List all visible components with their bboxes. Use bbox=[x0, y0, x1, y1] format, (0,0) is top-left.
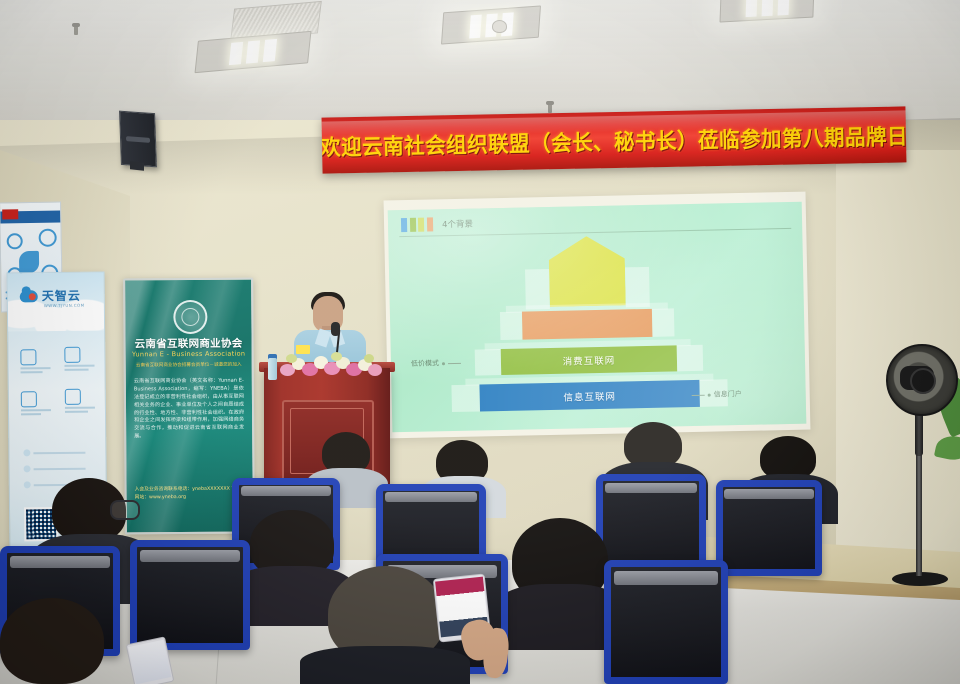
feature-text-line bbox=[21, 371, 43, 373]
bullet-item bbox=[23, 449, 85, 457]
wall-speaker bbox=[119, 111, 157, 168]
header-bar-lime bbox=[418, 218, 424, 232]
microphone-icon bbox=[331, 322, 340, 336]
feature-icon bbox=[65, 389, 81, 405]
fan-pole bbox=[916, 450, 922, 576]
tier-blue-label: 信息互联网 bbox=[563, 388, 616, 403]
bullet-item bbox=[24, 465, 86, 473]
welcome-banner: 热烈欢迎云南社会组织联盟（会长、秘书长）莅临参加第八期品牌日活动 bbox=[322, 106, 907, 173]
bullet-text-line bbox=[33, 451, 85, 454]
feature-cell bbox=[64, 347, 98, 373]
callout-line bbox=[448, 362, 461, 363]
feature-text-line bbox=[64, 365, 94, 367]
chair[interactable] bbox=[130, 540, 250, 650]
pyramid-tier-blue: 信息互联网 bbox=[479, 380, 700, 412]
callout-line bbox=[692, 394, 705, 395]
callout-dot-icon bbox=[442, 362, 445, 365]
chair[interactable] bbox=[604, 560, 728, 684]
pyramid-tier-orange bbox=[522, 309, 653, 340]
feature-text-line bbox=[21, 413, 41, 415]
attendee-head bbox=[0, 598, 104, 684]
conference-room-photo: 热烈欢迎云南社会组织联盟（会长、秘书长）莅临参加第八期品牌日活动 4个背景 bbox=[0, 0, 960, 684]
chair-bar bbox=[140, 550, 241, 562]
tier-ghost-left bbox=[500, 312, 523, 340]
header-bar-green bbox=[409, 218, 415, 232]
pyramid-tier-green: 消费互联网 bbox=[501, 345, 678, 375]
chair-bar bbox=[605, 483, 697, 494]
feature-cell bbox=[65, 389, 99, 415]
feature-text-line bbox=[21, 367, 51, 369]
fan-hub bbox=[910, 368, 936, 394]
poster-swirl-icon bbox=[19, 251, 39, 273]
speaker-bracket bbox=[130, 161, 144, 170]
tier-ghost-left bbox=[475, 349, 502, 376]
feature-icon bbox=[20, 349, 36, 365]
tier-ghost-left bbox=[451, 384, 480, 412]
chair[interactable] bbox=[716, 480, 822, 576]
feature-text-line bbox=[21, 409, 51, 411]
bullet-icon bbox=[24, 481, 31, 488]
feature-icon bbox=[64, 347, 80, 363]
feature-text-line bbox=[65, 411, 88, 413]
node-icon bbox=[39, 229, 57, 247]
chair-bar bbox=[724, 489, 813, 500]
feature-cell bbox=[21, 391, 55, 417]
header-bar-orange bbox=[426, 217, 432, 231]
chair-bar bbox=[614, 571, 718, 585]
bullet-icon bbox=[23, 449, 30, 456]
callout-left-text: 低价模式 bbox=[411, 358, 439, 369]
chair[interactable] bbox=[596, 474, 706, 570]
bullet-text-line bbox=[34, 467, 86, 470]
tier-ghost-right bbox=[677, 345, 704, 372]
chair-bar bbox=[10, 556, 111, 568]
projection-screen: 4个背景 消费互联网 信息互联网 bbox=[384, 192, 811, 439]
apex-wing-left bbox=[525, 269, 550, 309]
chair-bar bbox=[385, 492, 477, 502]
feature-text-line bbox=[65, 369, 89, 371]
presentation-slide: 4个背景 消费互联网 信息互联网 bbox=[388, 202, 807, 433]
callout-right-text: 信息门户 bbox=[714, 389, 742, 400]
tier-ghost-right bbox=[652, 308, 675, 336]
tianzhi-brand-name: 天智云 bbox=[42, 287, 81, 304]
feature-cell bbox=[20, 349, 54, 375]
flower-arrangement bbox=[276, 352, 386, 380]
callout-dot-icon bbox=[708, 393, 711, 396]
bullet-icon bbox=[24, 465, 31, 472]
poster-logo-badge bbox=[2, 209, 18, 219]
chair-bar bbox=[241, 486, 332, 496]
tier-green-label: 消费互联网 bbox=[563, 353, 616, 368]
node-icon bbox=[7, 233, 23, 249]
phone-screen bbox=[128, 640, 171, 684]
header-bar-blue bbox=[401, 218, 407, 232]
attendee-shoulders bbox=[300, 646, 470, 684]
pyramid-apex-arrow bbox=[548, 235, 625, 307]
callout-right: 信息门户 bbox=[692, 389, 742, 400]
feature-text-line bbox=[65, 407, 95, 409]
cloud-icon bbox=[20, 290, 38, 302]
callout-left: 低价模式 bbox=[411, 358, 461, 369]
eyeglasses-icon bbox=[110, 500, 140, 520]
slide-header: 4个背景 bbox=[401, 217, 473, 233]
slide-title: 4个背景 bbox=[442, 218, 473, 231]
feature-icon bbox=[21, 391, 37, 407]
tianzhi-logo: 天智云 bbox=[20, 287, 81, 305]
apex-wing-right bbox=[625, 267, 650, 307]
tianzhi-url: WWW.TJYUN.COM bbox=[44, 303, 85, 308]
